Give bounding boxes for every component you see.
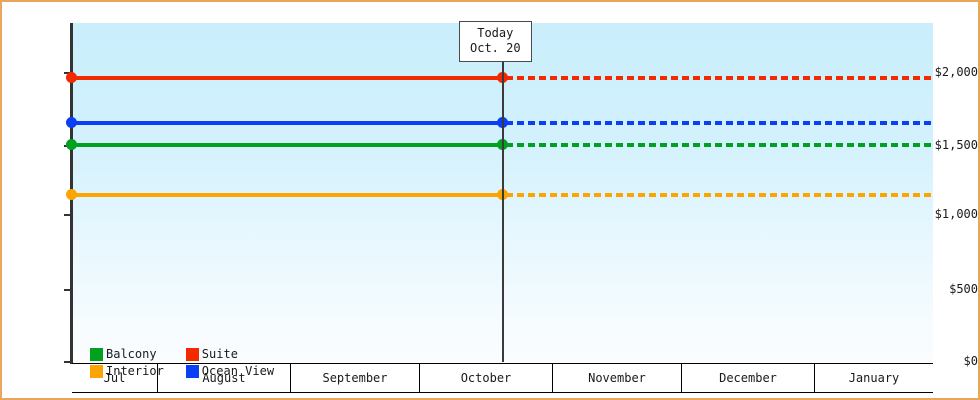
legend-item-balcony[interactable]: Balcony	[90, 348, 164, 361]
x-axis-month-november[interactable]: November	[553, 364, 682, 392]
x-axis-month-december[interactable]: December	[682, 364, 815, 392]
x-axis-month-jul[interactable]: Jul	[72, 364, 158, 392]
series-point-balcony-start	[66, 139, 77, 150]
series-point-interior-start	[66, 189, 77, 200]
series-line-ocean-view-actual	[72, 121, 504, 125]
x-axis-month-row: Jul August September October November De…	[72, 363, 933, 393]
series-point-suite-start	[66, 72, 77, 83]
y-axis-label-1000: $1,000	[914, 208, 978, 220]
series-line-suite-actual	[72, 76, 504, 80]
legend-swatch-icon-suite	[186, 348, 199, 361]
legend-swatch-icon-balcony	[90, 348, 103, 361]
series-line-interior-forecast	[506, 193, 933, 197]
y-tick-0	[64, 361, 72, 363]
legend-label-balcony: Balcony	[106, 348, 157, 361]
series-line-balcony-actual	[72, 143, 504, 147]
x-axis-month-august[interactable]: August	[158, 364, 291, 392]
today-marker-label: Today Oct. 20	[459, 21, 532, 62]
series-line-interior-actual	[72, 193, 504, 197]
series-line-balcony-forecast	[506, 143, 933, 147]
legend-label-suite: Suite	[202, 348, 238, 361]
today-marker-line	[502, 54, 504, 362]
series-point-ocean-view-start	[66, 117, 77, 128]
today-label-line1: Today	[470, 26, 521, 41]
x-axis-month-january[interactable]: January	[815, 364, 933, 392]
legend-item-suite[interactable]: Suite	[186, 348, 274, 361]
series-line-ocean-view-forecast	[506, 121, 933, 125]
today-label-line2: Oct. 20	[470, 41, 521, 56]
y-axis-label-500: $500	[914, 283, 978, 295]
x-axis-month-october[interactable]: October	[420, 364, 553, 392]
y-tick-1000	[64, 214, 72, 216]
chart-frame: $2,000 $1,500 $1,000 $500 $0 Today Oct. …	[0, 0, 980, 400]
x-axis-month-september[interactable]: September	[291, 364, 420, 392]
series-line-suite-forecast	[506, 76, 933, 80]
y-tick-500	[64, 289, 72, 291]
